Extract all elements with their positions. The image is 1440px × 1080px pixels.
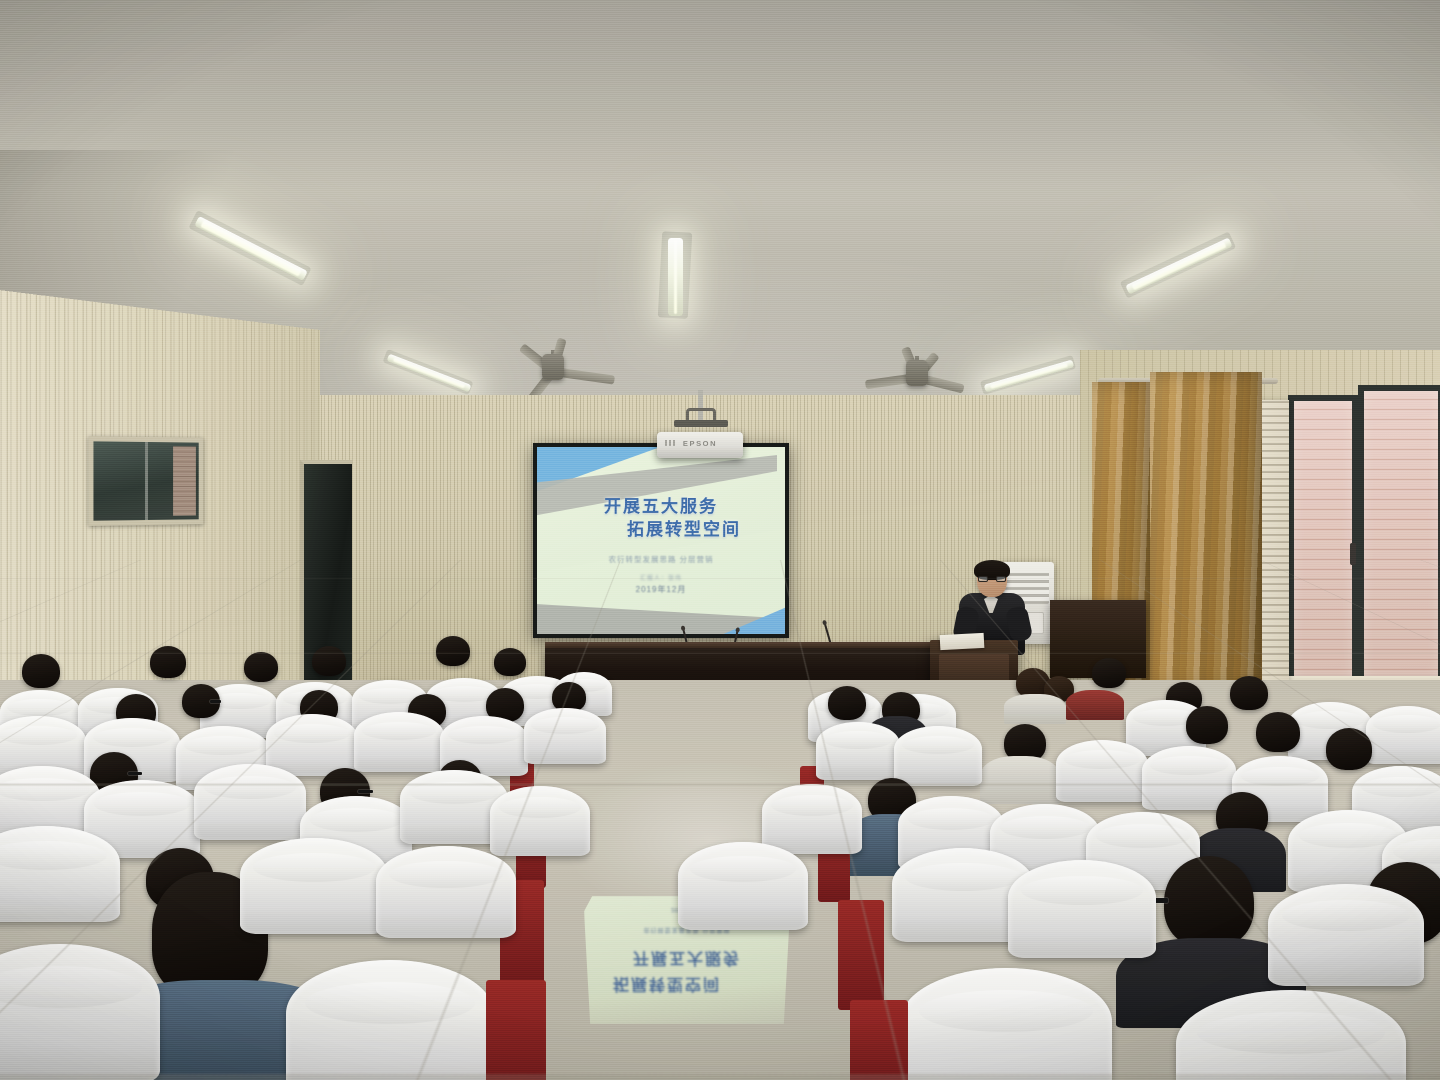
- reflection-line1: 开展五大服务: [584, 948, 790, 972]
- glasses-icon: [210, 700, 221, 703]
- seat[interactable]: [0, 826, 120, 922]
- fan-hub: [542, 354, 564, 380]
- seat-frame: [850, 1000, 908, 1080]
- slide-title: 开展五大服务 拓展转型空间: [537, 495, 785, 541]
- glasses-icon: [358, 790, 373, 793]
- projector: EPSON: [657, 432, 743, 458]
- glasses-icon: [128, 772, 142, 775]
- window-handle-icon[interactable]: [1350, 543, 1354, 565]
- seat[interactable]: [816, 722, 900, 780]
- attendee-shoulders: [1066, 690, 1124, 720]
- attendee-head: [1256, 712, 1300, 752]
- seat[interactable]: [240, 838, 388, 934]
- attendee-shoulders: [1004, 694, 1066, 724]
- attendee-head: [1230, 676, 1268, 710]
- window-brick-view: [1364, 391, 1438, 679]
- attendee-head: [150, 646, 186, 678]
- seat[interactable]: [894, 726, 982, 786]
- seat-frame: [486, 980, 546, 1080]
- seat[interactable]: [1268, 884, 1424, 986]
- left-wall-window: [88, 436, 203, 526]
- window-sash: [145, 442, 148, 520]
- seat[interactable]: [354, 712, 444, 772]
- seat[interactable]: [1056, 740, 1148, 802]
- seat[interactable]: [490, 786, 590, 856]
- seat-frame: [838, 900, 884, 1010]
- fan-hub: [906, 360, 928, 386]
- attendee-head: [436, 636, 470, 666]
- attendee-head: [22, 654, 60, 688]
- slide-title-line2: 拓展转型空间: [537, 518, 785, 541]
- seat[interactable]: [762, 784, 862, 854]
- ceiling-fan-1: [552, 366, 554, 368]
- attendee-head: [244, 652, 278, 682]
- projector-mount: [672, 404, 730, 434]
- seat[interactable]: [1008, 860, 1156, 958]
- projector-mount-arm: [674, 420, 728, 427]
- right-window-right-pane: [1358, 385, 1440, 685]
- fluorescent-fixture-3: [668, 238, 683, 316]
- seat[interactable]: [194, 764, 306, 840]
- window-brick-view: [173, 446, 196, 515]
- projector-brand-label: EPSON: [657, 439, 743, 448]
- attendee-head: [1186, 706, 1228, 744]
- attendee-head: [312, 646, 346, 676]
- attendee-head: [828, 686, 866, 720]
- seat[interactable]: [524, 708, 606, 764]
- slide-title-line1: 开展五大服务: [604, 497, 718, 516]
- seat[interactable]: [266, 714, 358, 776]
- window-brick-view: [1294, 401, 1352, 679]
- attendee-shoulders: [980, 756, 1060, 804]
- attendee-head: [494, 648, 526, 676]
- seat[interactable]: [900, 968, 1112, 1080]
- right-window-left-pane: [1288, 395, 1358, 685]
- attendee-head: [1092, 658, 1126, 688]
- seat[interactable]: [286, 960, 494, 1080]
- seat[interactable]: [678, 842, 808, 930]
- ceiling-fan-2: [916, 372, 918, 374]
- glasses-icon: [978, 576, 1006, 582]
- seat[interactable]: [376, 846, 516, 938]
- reflection-line2: 拓展转型空间: [584, 974, 790, 998]
- seat[interactable]: [1366, 706, 1440, 764]
- curtain-right-panel[interactable]: [1150, 372, 1262, 690]
- attendee-head: [1164, 856, 1254, 948]
- attendee-head: [1326, 728, 1372, 770]
- seat[interactable]: [0, 944, 160, 1080]
- conference-hall-photo: 开展五大服务 拓展转型空间 农行转型发展思路 分层营销 汇报人：张伟 2019年…: [0, 0, 1440, 1080]
